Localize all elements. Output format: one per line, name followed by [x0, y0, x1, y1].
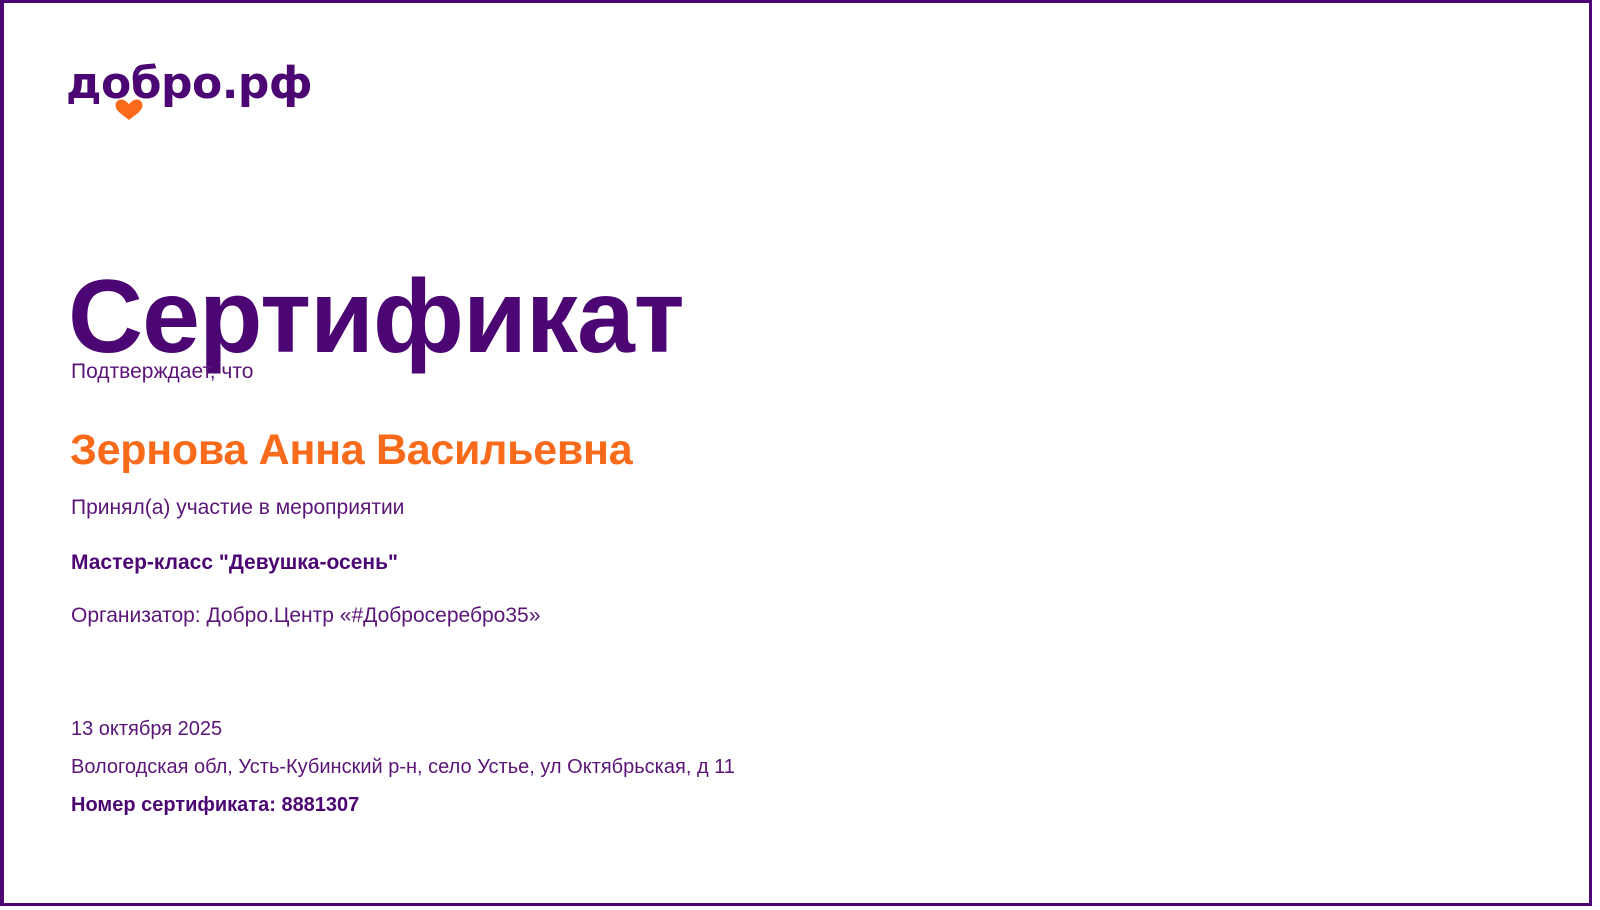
certificate-card: добро.рф Сертификат Подтверждает, что Зе… — [0, 0, 1592, 906]
issue-address: Вологодская обл, Усть-Кубинский р-н, сел… — [71, 754, 1471, 780]
event-name: Мастер-класс "Девушка-осень" — [71, 549, 398, 577]
confirms-label: Подтверждает, что — [71, 358, 253, 386]
logo-wordmark: добро.рф — [66, 61, 306, 107]
certificate-number: Номер сертификата: 8881307 — [71, 792, 1471, 818]
certificate-footer: 13 октября 2025 Вологодская обл, Усть-Ку… — [71, 716, 1471, 818]
participation-label: Принял(а) участие в мероприятии — [71, 494, 404, 522]
organizer-line: Организатор: Добро.Центр «#Добросеребро3… — [71, 602, 540, 630]
issue-date: 13 октября 2025 — [71, 716, 1471, 742]
heart-icon — [114, 99, 144, 121]
dobro-rf-logo: добро.рф — [66, 61, 306, 123]
recipient-name: Зернова Анна Васильевна — [70, 424, 632, 476]
page-title: Сертификат — [68, 261, 684, 373]
